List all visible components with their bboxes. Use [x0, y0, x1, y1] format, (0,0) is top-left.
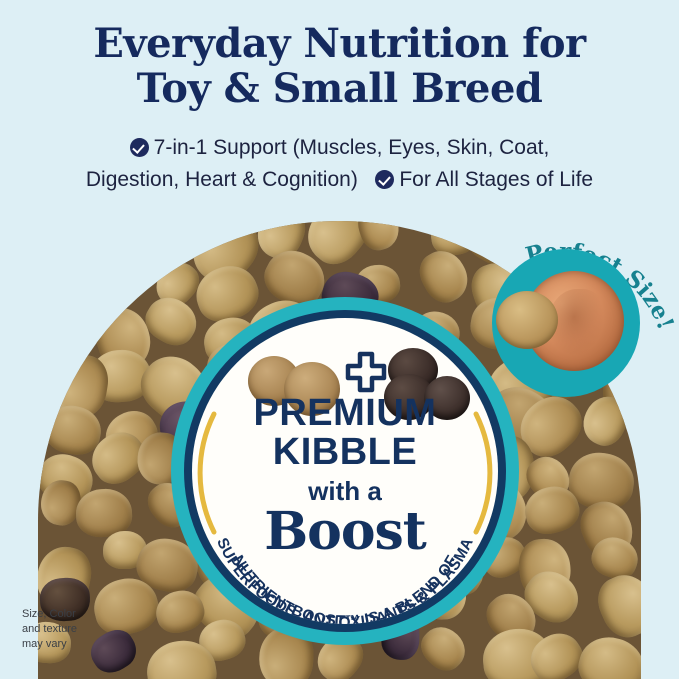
bullet-text-support: 7-in-1 Support (Muscles, Eyes, Skin, Coa… — [154, 136, 550, 159]
bullet-line-2: Digestion, Heart & Cognition) For All St… — [28, 164, 651, 196]
kibble-piece — [589, 566, 641, 644]
headline-line-1: Everyday Nutrition for — [0, 22, 679, 66]
kibble-piece — [573, 631, 641, 679]
disclaimer-line-2: and texture — [22, 622, 77, 637]
badge-title-premium: PREMIUM — [192, 394, 498, 432]
kibble-size-sample — [496, 291, 558, 349]
check-circle-icon — [130, 138, 149, 157]
product-infographic: Everyday Nutrition for Toy & Small Breed… — [0, 0, 679, 679]
feature-bullets: 7-in-1 Support (Muscles, Eyes, Skin, Coa… — [28, 132, 651, 196]
bullet-text-support-cont: Digestion, Heart & Cognition) — [86, 168, 358, 191]
bullet-line-1: 7-in-1 Support (Muscles, Eyes, Skin, Coa… — [28, 132, 651, 164]
headline-line-2: Toy & Small Breed — [0, 66, 679, 112]
page-title: Everyday Nutrition for Toy & Small Breed — [0, 22, 679, 112]
disclaimer-line-1: Size, Color — [22, 607, 77, 622]
badge-title-kibble: KIBBLE — [192, 432, 498, 472]
premium-kibble-badge: NUTRIENTBOOST™ IS A BLEND OF SUPERFOODS,… — [171, 297, 519, 645]
badge-title-boost: Boost — [192, 506, 498, 558]
kibble-piece — [38, 260, 75, 307]
perfect-size-callout: Perfect Size! — [492, 249, 640, 397]
plus-icon — [344, 350, 388, 394]
disclaimer-line-3: may vary — [22, 637, 77, 652]
badge-title-block: PREMIUM KIBBLE with a Boost — [192, 394, 498, 558]
disclaimer-text: Size, Color and texture may vary — [22, 607, 77, 652]
check-circle-icon-2 — [375, 170, 394, 189]
bullet-text-life-stages: For All Stages of Life — [399, 168, 593, 191]
badge-face: NUTRIENTBOOST™ IS A BLEND OF SUPERFOODS,… — [192, 318, 498, 624]
